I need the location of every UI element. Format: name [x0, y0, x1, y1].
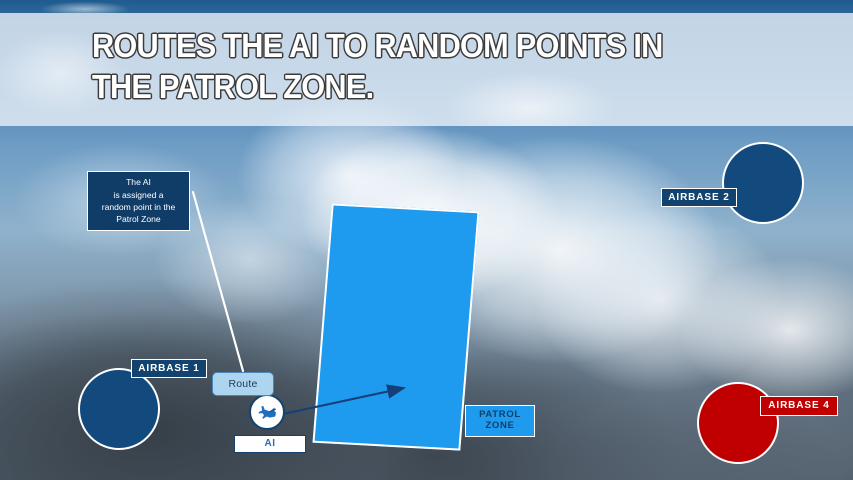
ai-label[interactable]: AI — [234, 435, 306, 453]
callout-box: The AI is assigned a random point in the… — [87, 171, 190, 231]
fighter-jet-icon[interactable] — [249, 394, 285, 430]
airbase-1-label[interactable]: AIRBASE 1 — [131, 359, 207, 378]
airbase-4-circle[interactable] — [697, 382, 779, 464]
airbase-4-label[interactable]: AIRBASE 4 — [760, 396, 838, 416]
jet-glyph — [255, 400, 279, 424]
airbase-2-circle[interactable] — [722, 142, 804, 224]
patrol-zone-label-line2: ZONE — [485, 421, 514, 432]
airbase-2-label[interactable]: AIRBASE 2 — [661, 188, 737, 207]
slide-canvas: ROUTES THE AI TO RANDOM POINTS IN THE PA… — [0, 0, 853, 480]
patrol-zone-label[interactable]: PATROL ZONE — [465, 405, 535, 437]
page-title: ROUTES THE AI TO RANDOM POINTS IN THE PA… — [92, 26, 743, 107]
patrol-zone-shape[interactable] — [312, 203, 479, 450]
route-label[interactable]: Route — [212, 372, 274, 396]
sky-top-strip — [0, 0, 853, 13]
airbase-1-circle[interactable] — [78, 368, 160, 450]
